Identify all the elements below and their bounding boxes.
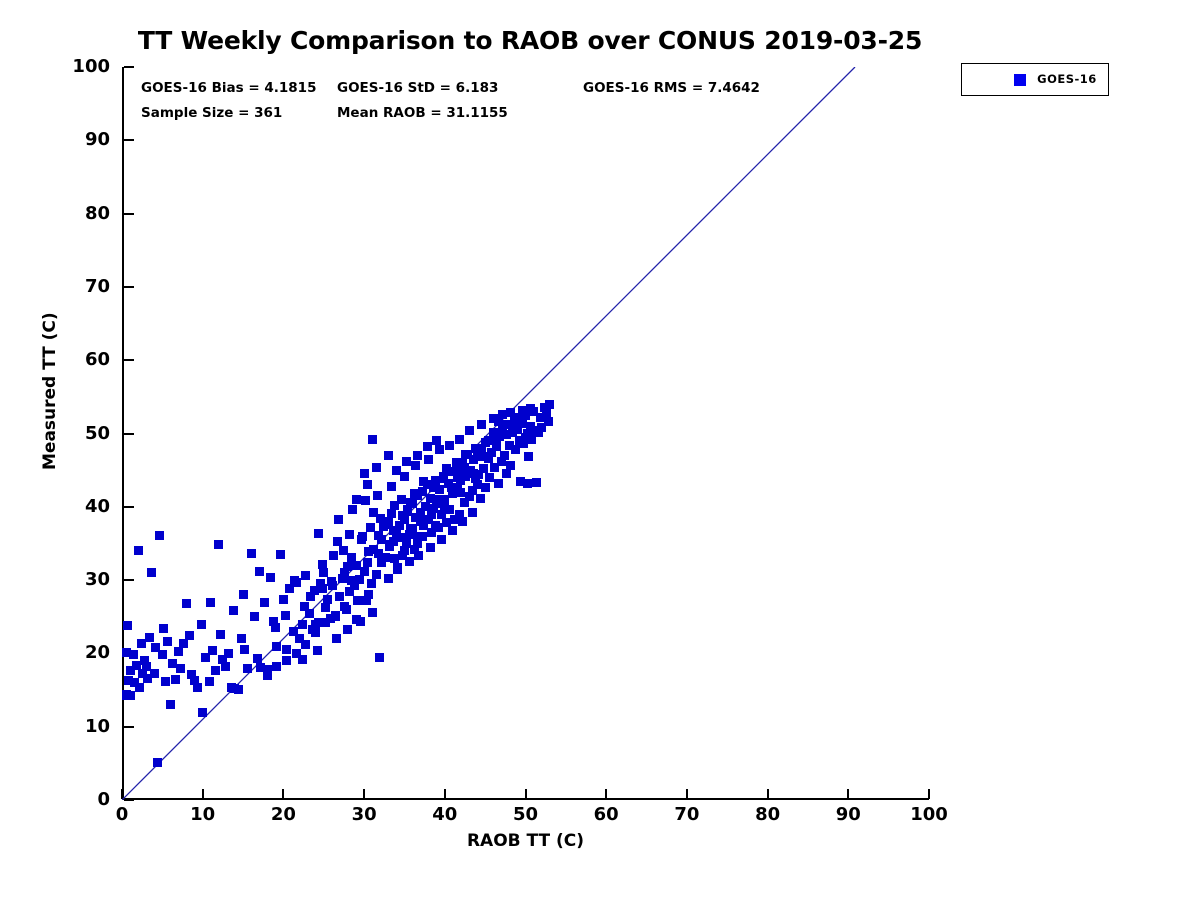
data-point xyxy=(500,451,509,460)
y-tick-label-70: 70 xyxy=(48,278,110,296)
data-point xyxy=(372,570,381,579)
data-point xyxy=(272,642,281,651)
data-point xyxy=(206,598,215,607)
data-point xyxy=(352,561,361,570)
data-point xyxy=(240,645,249,654)
data-point xyxy=(319,568,328,577)
data-point xyxy=(197,620,206,629)
data-point xyxy=(544,417,553,426)
data-point xyxy=(360,469,369,478)
data-point xyxy=(301,640,310,649)
data-point xyxy=(437,535,446,544)
data-point xyxy=(313,646,322,655)
data-point xyxy=(290,576,299,585)
y-tick-label-40: 40 xyxy=(48,498,110,516)
data-point xyxy=(126,691,135,700)
data-point xyxy=(429,483,438,492)
data-point xyxy=(272,662,281,671)
data-point xyxy=(494,479,503,488)
y-tick-label-30: 30 xyxy=(48,571,110,589)
data-point xyxy=(375,653,384,662)
data-point xyxy=(423,442,432,451)
data-point xyxy=(323,595,332,604)
y-tick-label-10: 10 xyxy=(48,718,110,736)
data-point xyxy=(387,509,396,518)
data-point xyxy=(492,433,501,442)
data-point xyxy=(260,598,269,607)
y-axis-title: Measured TT (C) xyxy=(40,312,60,470)
data-point xyxy=(468,508,477,517)
data-point xyxy=(427,510,436,519)
data-point xyxy=(216,630,225,639)
x-tick-label-30: 30 xyxy=(329,806,399,824)
data-point xyxy=(526,404,535,413)
data-point xyxy=(360,567,369,576)
data-point xyxy=(410,489,419,498)
data-point xyxy=(221,662,230,671)
data-point xyxy=(332,634,341,643)
data-point xyxy=(279,595,288,604)
data-point xyxy=(413,539,422,548)
data-point xyxy=(400,546,409,555)
data-point xyxy=(393,565,402,574)
x-tick-label-60: 60 xyxy=(571,806,641,824)
data-point xyxy=(484,454,493,463)
data-point xyxy=(513,413,522,422)
x-tick-label-0: 0 xyxy=(87,806,157,824)
data-point xyxy=(134,546,143,555)
data-point xyxy=(397,495,406,504)
data-point xyxy=(356,617,365,626)
data-point xyxy=(461,450,470,459)
data-point xyxy=(333,537,342,546)
data-point xyxy=(469,469,478,478)
data-point xyxy=(465,426,474,435)
data-point xyxy=(211,666,220,675)
data-point xyxy=(366,523,375,532)
data-point xyxy=(335,592,344,601)
data-point xyxy=(185,631,194,640)
data-point xyxy=(345,530,354,539)
data-point xyxy=(224,649,233,658)
data-point xyxy=(397,533,406,542)
legend-marker-goes16 xyxy=(1014,74,1026,86)
data-point xyxy=(298,655,307,664)
y-tick-label-100: 100 xyxy=(48,58,110,76)
data-point xyxy=(471,444,480,453)
data-point xyxy=(155,531,164,540)
data-point xyxy=(198,708,207,717)
y-tick-label-80: 80 xyxy=(48,205,110,223)
data-point xyxy=(363,480,372,489)
data-point xyxy=(129,650,138,659)
data-point xyxy=(182,599,191,608)
y-tick-label-20: 20 xyxy=(48,644,110,662)
x-tick-label-20: 20 xyxy=(248,806,318,824)
data-point xyxy=(432,436,441,445)
data-point xyxy=(281,611,290,620)
data-point xyxy=(306,592,315,601)
data-point xyxy=(327,577,336,586)
data-point xyxy=(348,505,357,514)
data-point xyxy=(300,602,309,611)
data-point xyxy=(521,433,530,442)
data-point xyxy=(368,435,377,444)
data-point xyxy=(408,499,417,508)
data-point xyxy=(353,596,362,605)
data-point xyxy=(282,645,291,654)
data-point xyxy=(161,677,170,686)
data-point xyxy=(358,532,367,541)
data-point xyxy=(384,574,393,583)
data-point xyxy=(384,451,393,460)
data-point xyxy=(229,606,238,615)
data-point xyxy=(153,758,162,767)
data-point xyxy=(159,624,168,633)
data-point xyxy=(263,671,272,680)
data-point xyxy=(402,457,411,466)
data-point xyxy=(473,480,482,489)
data-point xyxy=(476,494,485,503)
data-point xyxy=(424,455,433,464)
data-point xyxy=(282,656,291,665)
data-point xyxy=(534,428,543,437)
data-point xyxy=(193,683,202,692)
data-point xyxy=(405,557,414,566)
data-point xyxy=(329,551,338,560)
x-tick-label-70: 70 xyxy=(652,806,722,824)
data-point xyxy=(387,482,396,491)
data-point xyxy=(506,461,515,470)
data-point xyxy=(123,621,132,630)
data-point xyxy=(331,612,340,621)
x-tick-label-40: 40 xyxy=(410,806,480,824)
data-point xyxy=(247,549,256,558)
data-point xyxy=(435,445,444,454)
data-point xyxy=(511,422,520,431)
data-point xyxy=(542,408,551,417)
data-point xyxy=(276,550,285,559)
data-point xyxy=(266,573,275,582)
data-point xyxy=(301,571,310,580)
scatter-plot-figure: TT Weekly Comparison to RAOB over CONUS … xyxy=(0,0,1200,900)
x-tick-label-10: 10 xyxy=(168,806,238,824)
data-point xyxy=(368,608,377,617)
data-point xyxy=(239,590,248,599)
data-point xyxy=(343,625,352,634)
data-point xyxy=(145,633,154,642)
data-point xyxy=(318,584,327,593)
data-point xyxy=(361,496,370,505)
data-point xyxy=(390,554,399,563)
data-point xyxy=(373,491,382,500)
legend-label-goes16: GOES-16 xyxy=(1034,72,1100,86)
data-point xyxy=(363,558,372,567)
x-tick-label-90: 90 xyxy=(813,806,883,824)
data-point xyxy=(339,546,348,555)
data-point xyxy=(426,543,435,552)
data-point xyxy=(355,575,364,584)
data-point xyxy=(255,567,264,576)
data-point xyxy=(431,521,440,530)
data-point xyxy=(492,442,501,451)
data-point xyxy=(321,618,330,627)
data-point xyxy=(298,620,307,629)
data-point xyxy=(342,605,351,614)
plot-area xyxy=(122,67,929,800)
data-point xyxy=(481,438,490,447)
x-tick-label-50: 50 xyxy=(491,806,561,824)
data-point xyxy=(334,515,343,524)
data-point xyxy=(140,656,149,665)
data-point xyxy=(176,664,185,673)
data-point xyxy=(352,495,361,504)
data-point xyxy=(419,477,428,486)
data-point xyxy=(411,461,420,470)
data-point xyxy=(416,517,425,526)
data-point xyxy=(453,473,462,482)
data-point xyxy=(455,435,464,444)
data-point xyxy=(214,540,223,549)
data-point xyxy=(532,478,541,487)
data-point xyxy=(372,463,381,472)
y-tick-label-90: 90 xyxy=(48,131,110,149)
page-title: TT Weekly Comparison to RAOB over CONUS … xyxy=(0,26,1060,55)
data-point xyxy=(369,508,378,517)
data-point xyxy=(385,540,394,549)
data-point xyxy=(237,634,246,643)
data-point xyxy=(447,483,456,492)
x-tick-label-100: 100 xyxy=(894,806,964,824)
data-point xyxy=(474,452,483,461)
data-point xyxy=(413,451,422,460)
data-point xyxy=(460,463,469,472)
data-point xyxy=(135,683,144,692)
data-point xyxy=(442,464,451,473)
data-point xyxy=(243,664,252,673)
data-point xyxy=(456,488,465,497)
data-point xyxy=(481,483,490,492)
data-point xyxy=(377,535,386,544)
data-point xyxy=(439,474,448,483)
data-point xyxy=(364,590,373,599)
data-point xyxy=(523,479,532,488)
data-point xyxy=(392,466,401,475)
data-point xyxy=(147,568,156,577)
data-point xyxy=(132,661,141,670)
data-point xyxy=(494,417,503,426)
data-point xyxy=(545,400,554,409)
data-point xyxy=(171,675,180,684)
data-point xyxy=(168,659,177,668)
data-point xyxy=(253,654,262,663)
data-point xyxy=(137,639,146,648)
data-point xyxy=(311,628,320,637)
data-point xyxy=(458,517,467,526)
data-point xyxy=(445,441,454,450)
data-point xyxy=(205,677,214,686)
data-point xyxy=(367,579,376,588)
data-point xyxy=(234,685,243,694)
data-point xyxy=(434,495,443,504)
data-point xyxy=(321,603,330,612)
data-point xyxy=(163,637,172,646)
data-point xyxy=(271,623,280,632)
x-axis-title: RAOB TT (C) xyxy=(122,831,929,851)
data-point xyxy=(208,646,217,655)
data-point xyxy=(314,529,323,538)
data-point xyxy=(502,430,511,439)
data-point xyxy=(166,700,175,709)
data-point xyxy=(150,669,159,678)
data-point xyxy=(414,551,423,560)
data-point xyxy=(448,526,457,535)
data-point xyxy=(477,420,486,429)
data-point xyxy=(406,524,415,533)
x-tick-label-80: 80 xyxy=(733,806,803,824)
data-point xyxy=(151,643,160,652)
data-point xyxy=(400,472,409,481)
data-point xyxy=(479,464,488,473)
data-point xyxy=(347,576,356,585)
legend[interactable]: GOES-16 xyxy=(961,63,1109,96)
data-point xyxy=(374,549,383,558)
data-point xyxy=(250,612,259,621)
data-point xyxy=(524,452,533,461)
data-point xyxy=(174,647,183,656)
